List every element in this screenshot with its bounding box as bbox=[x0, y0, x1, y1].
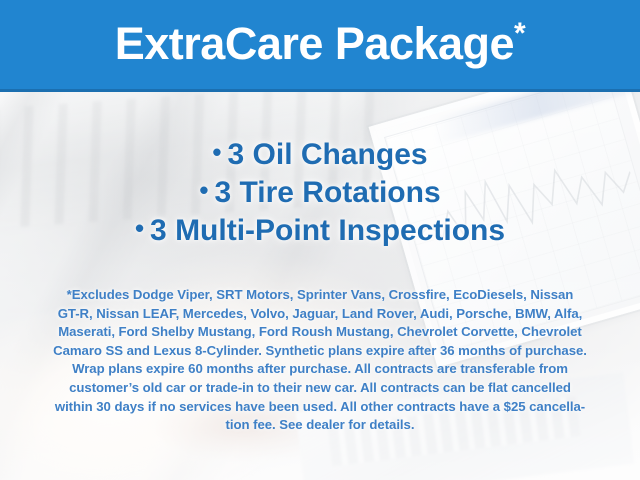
extracare-package-ad: ExtraCare Package* •3 Oil Changes •3 Tir… bbox=[0, 0, 640, 480]
disclaimer-line: within 30 days if no services have been … bbox=[28, 398, 612, 417]
disclaimer-line: Camaro SS and Lexus 8-Cylinder. Syntheti… bbox=[28, 342, 612, 361]
bullet-dot-icon: • bbox=[212, 139, 221, 165]
benefit-label: 3 Oil Changes bbox=[228, 138, 428, 171]
disclaimer-line: *Excludes Dodge Viper, SRT Motors, Sprin… bbox=[28, 286, 612, 305]
disclaimer-line: tion fee. See dealer for details. bbox=[28, 416, 612, 435]
benefit-label: 3 Multi-Point Inspections bbox=[150, 214, 505, 247]
benefit-item-oil-changes: •3 Oil Changes bbox=[0, 136, 640, 174]
benefit-item-tire-rotations: •3 Tire Rotations bbox=[0, 174, 640, 212]
page-title-text: ExtraCare Package bbox=[115, 18, 514, 69]
bullet-dot-icon: • bbox=[135, 215, 144, 241]
disclaimer-line: Maserati, Ford Shelby Mustang, Ford Rous… bbox=[28, 323, 612, 342]
benefits-list: •3 Oil Changes •3 Tire Rotations •3 Mult… bbox=[0, 136, 640, 250]
header-banner: ExtraCare Package* bbox=[0, 0, 640, 92]
bullet-dot-icon: • bbox=[199, 177, 208, 203]
disclaimer-line: GT-R, Nissan LEAF, Mercedes, Volvo, Jagu… bbox=[28, 305, 612, 324]
page-title-asterisk: * bbox=[514, 17, 525, 50]
page-title: ExtraCare Package* bbox=[115, 19, 525, 70]
disclaimer-line: customer’s old car or trade-in to their … bbox=[28, 379, 612, 398]
benefit-label: 3 Tire Rotations bbox=[214, 176, 440, 209]
benefit-item-multi-point-inspections: •3 Multi-Point Inspections bbox=[0, 212, 640, 250]
disclaimer-line: Wrap plans expire 60 months after purcha… bbox=[28, 360, 612, 379]
disclaimer-text: *Excludes Dodge Viper, SRT Motors, Sprin… bbox=[28, 286, 612, 435]
